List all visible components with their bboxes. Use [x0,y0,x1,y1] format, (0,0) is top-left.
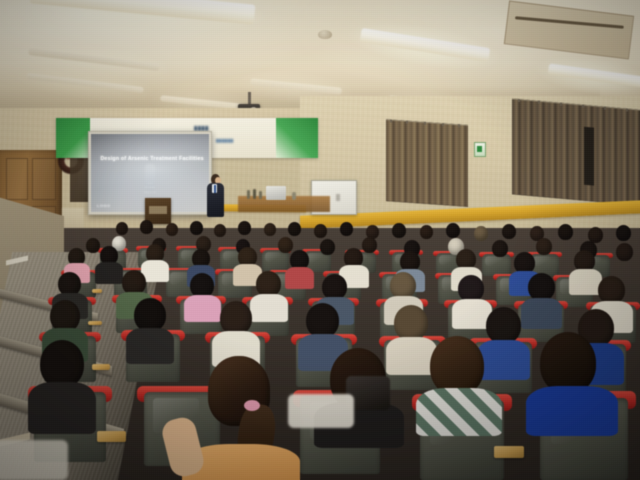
audience-member [362,237,377,253]
laptop [266,186,286,200]
audience-member [314,224,327,238]
audience-member [278,237,293,253]
audience-member [86,238,100,253]
white-cloth [288,394,354,428]
auditorium-seat[interactable] [482,254,511,276]
audience-member [320,239,335,255]
bottle [247,190,250,199]
audience-member [140,220,153,234]
window-right [512,98,640,205]
audience-member [492,240,508,257]
ceiling-light-fixture [250,78,342,95]
audience-member [214,224,226,237]
audience-member [420,225,433,239]
bottle [292,192,296,200]
audience-member [116,222,128,235]
banner-accent-right [276,118,318,158]
bottle [259,191,262,199]
bottle [253,189,256,199]
slide-title: Design of Arsenic Treatment Facilities [100,156,201,162]
lecture-hall-photo: ▮▮▮▮ ▮▮▮▮▮▮ Design of Arsenic Treatment … [0,0,640,480]
banner-accent-left [56,118,90,158]
audience-member [238,221,251,235]
auditorium-seat[interactable] [262,250,289,271]
banner-text-right: ▮▮▮▮▮▮ [216,138,234,144]
audience-member [536,238,552,255]
audience-member [474,226,488,241]
slide-subtitle-line: ····· ·· ··· [91,190,209,194]
slide-logo: LOGO [97,203,111,208]
audience-member [392,223,406,238]
audience-member [190,221,203,235]
audience-member [166,223,178,236]
audience-member [502,224,516,239]
audience-member [616,243,633,261]
slide-subtitle: · · · ··· ······ ····· ·· ··· [91,181,209,194]
ceiling-light-fixture [360,28,491,62]
audience-member [264,223,276,236]
audience-member [340,222,353,236]
hair-tie [244,400,260,411]
audience-member [616,225,631,241]
audience-member [446,223,460,238]
ceiling-light-fixture [548,63,640,87]
smoke-detector-icon [318,30,332,39]
wall-placard-icon [474,142,486,157]
audience-member [288,222,301,236]
audience-member [558,224,573,240]
window-left [386,119,468,207]
white-cloth [0,440,68,480]
ceiling-light-fixture [26,73,144,93]
